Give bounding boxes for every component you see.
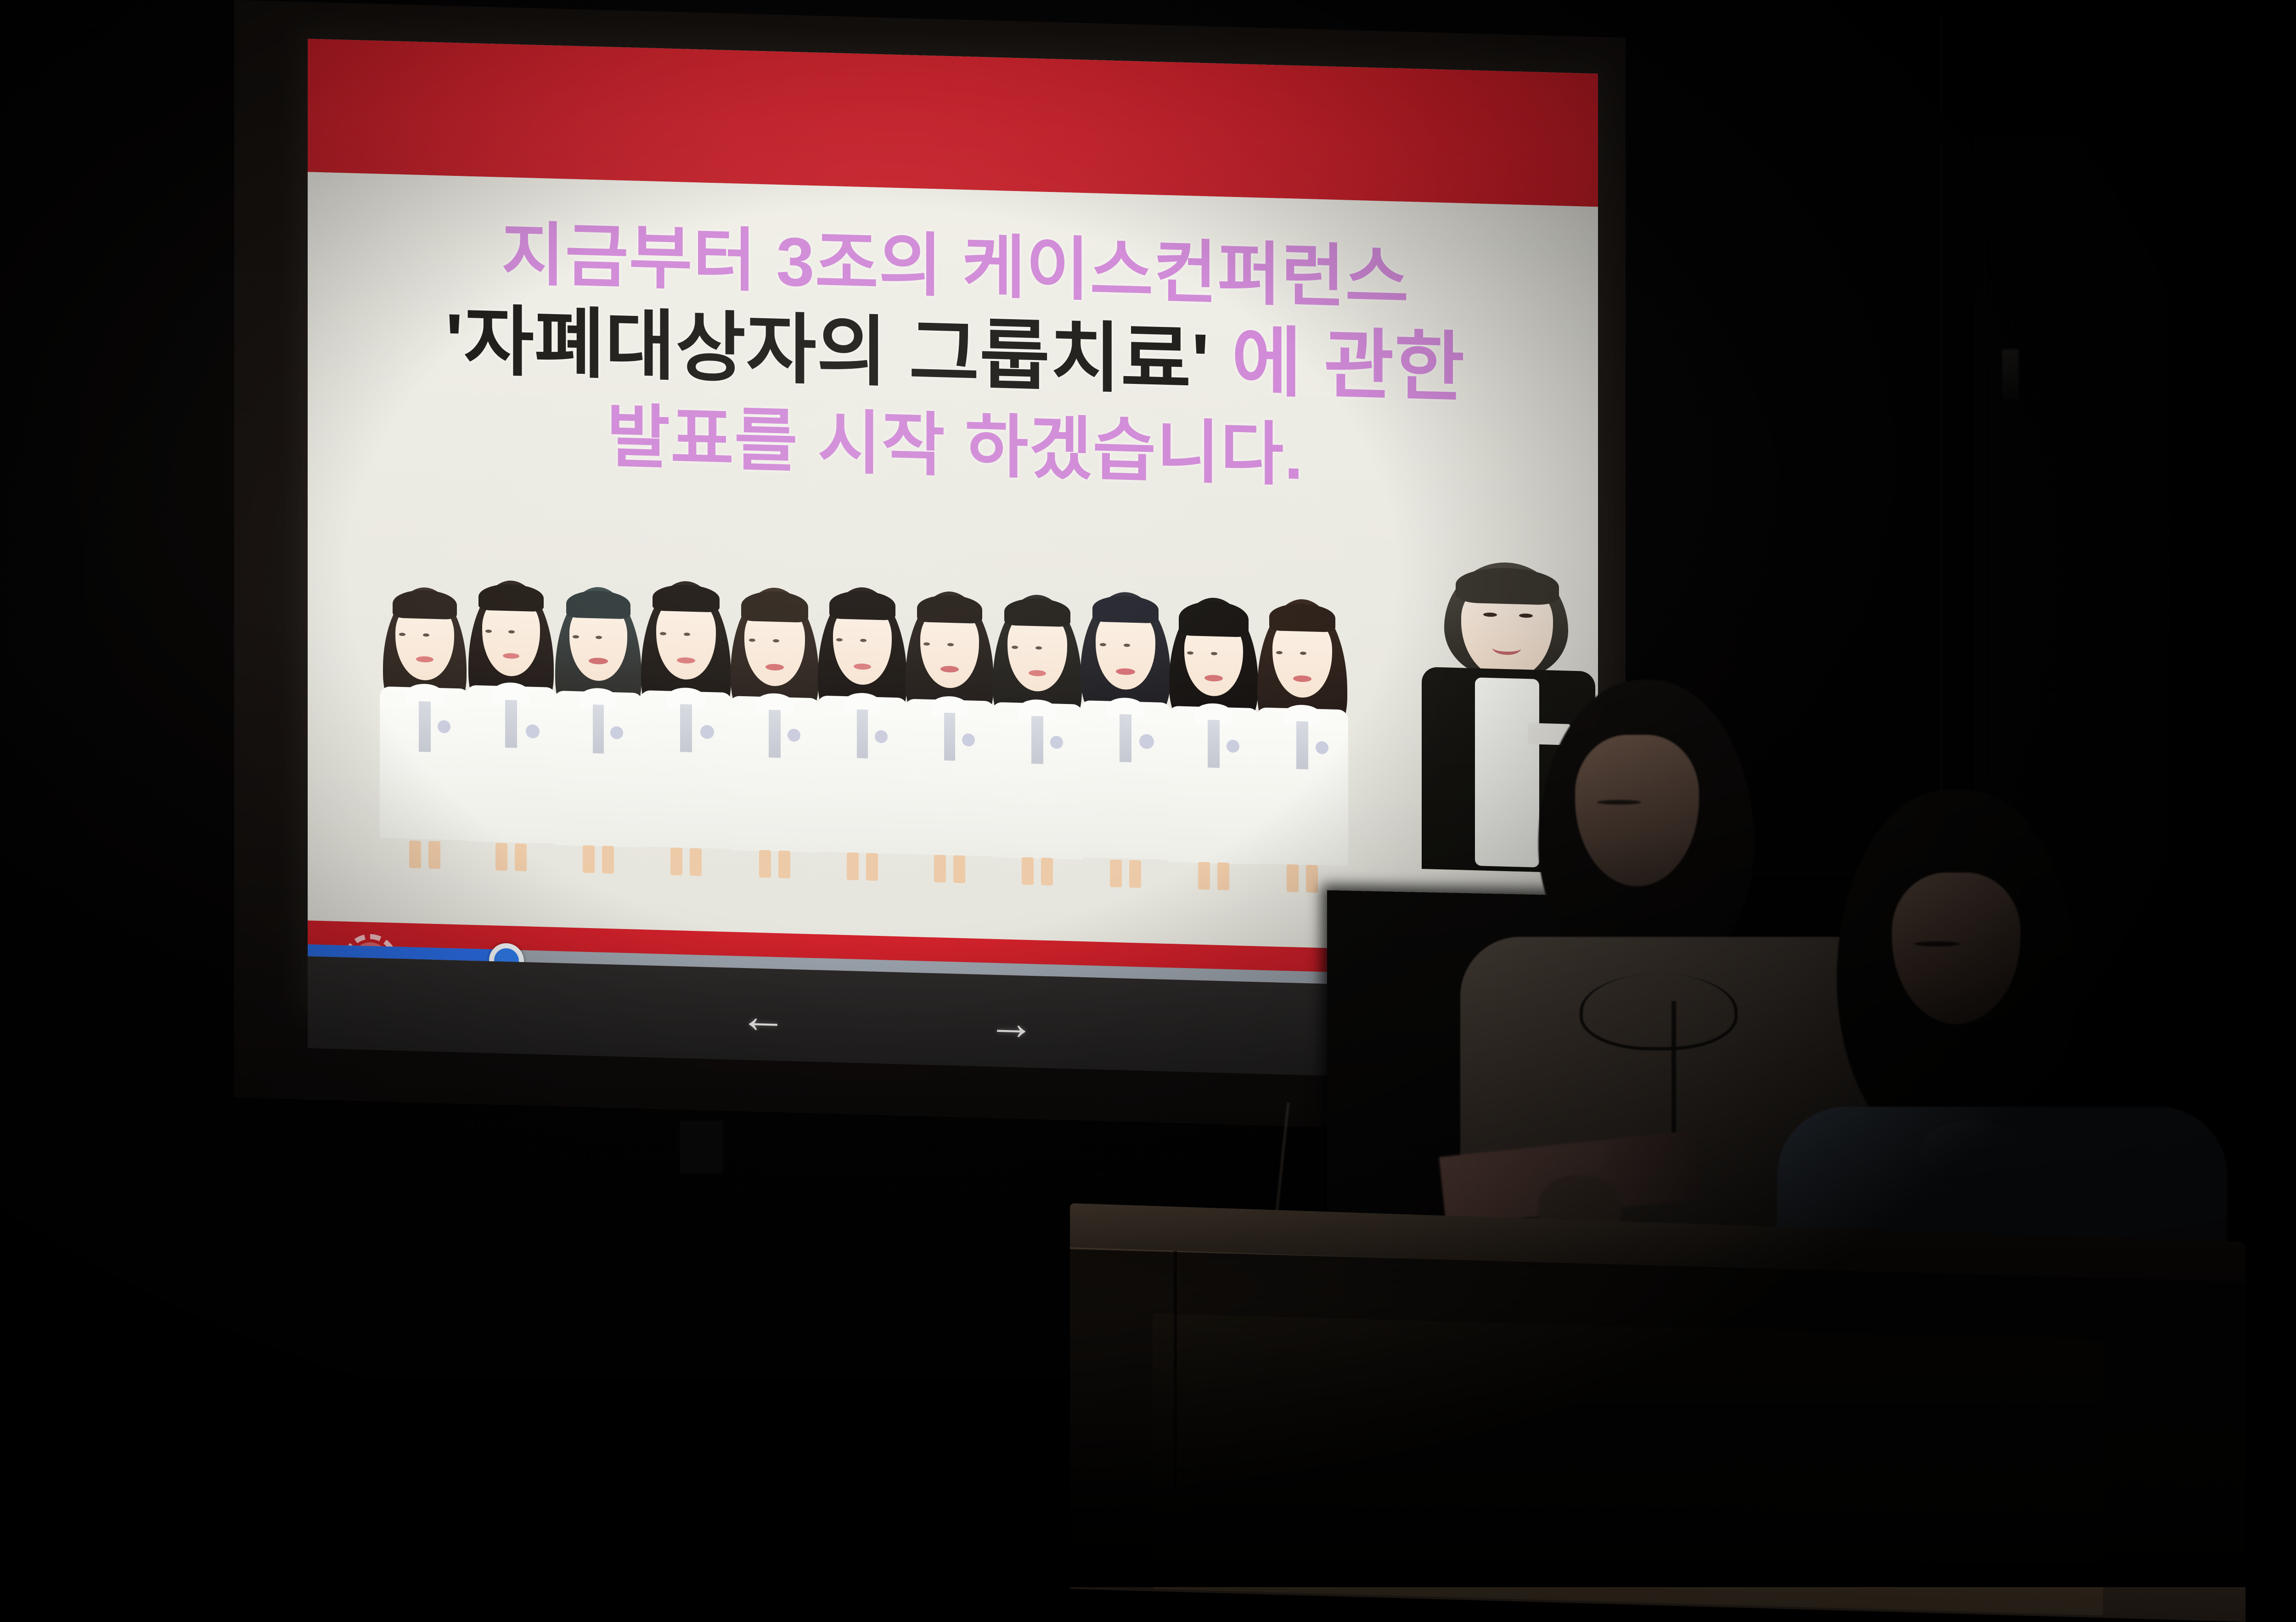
wall-seam-horizontal [1635, 873, 2296, 874]
projection-screen: 지금부터 3조의 케이스컨퍼런스 '자폐대상자의 그룹치료' 에 관한 발표를 … [234, 0, 1626, 1135]
headline-quoted-topic: '자폐대상자의 그룹치료' [445, 298, 1210, 404]
photo-person [1167, 590, 1261, 891]
solo-presenter-photo [1405, 546, 1598, 873]
headline-line-2-tail: 에 관한 [1210, 319, 1465, 411]
pocket-square [1528, 723, 1570, 745]
slide-headline: 지금부터 3조의 케이스컨퍼런스 '자폐대상자의 그룹치료' 에 관한 발표를 … [349, 210, 1561, 502]
wall-light-icon [2002, 349, 2019, 400]
photo-person [1079, 586, 1172, 889]
photo-person [465, 571, 557, 872]
photo-person [1255, 591, 1350, 894]
group-photo [379, 532, 1394, 895]
photo-person [816, 580, 909, 881]
wall-plate [680, 1121, 723, 1173]
photo-person [639, 574, 733, 877]
fringe [1456, 567, 1559, 605]
next-slide-arrow-icon[interactable]: → [987, 998, 1035, 1048]
photo-person [728, 579, 822, 879]
previous-slide-arrow-icon[interactable]: ← [739, 992, 787, 1041]
photo-person [552, 576, 644, 874]
photo-person [903, 583, 996, 884]
photo-person [379, 574, 471, 870]
prezi-slide[interactable]: 지금부터 3조의 케이스컨퍼런스 '자폐대상자의 그룹치료' 에 관한 발표를 … [308, 39, 1598, 1042]
wall-seam [1940, 0, 1942, 1240]
photo-person [990, 586, 1084, 887]
door-frame [1975, 138, 2169, 1173]
shirt [1475, 677, 1539, 867]
